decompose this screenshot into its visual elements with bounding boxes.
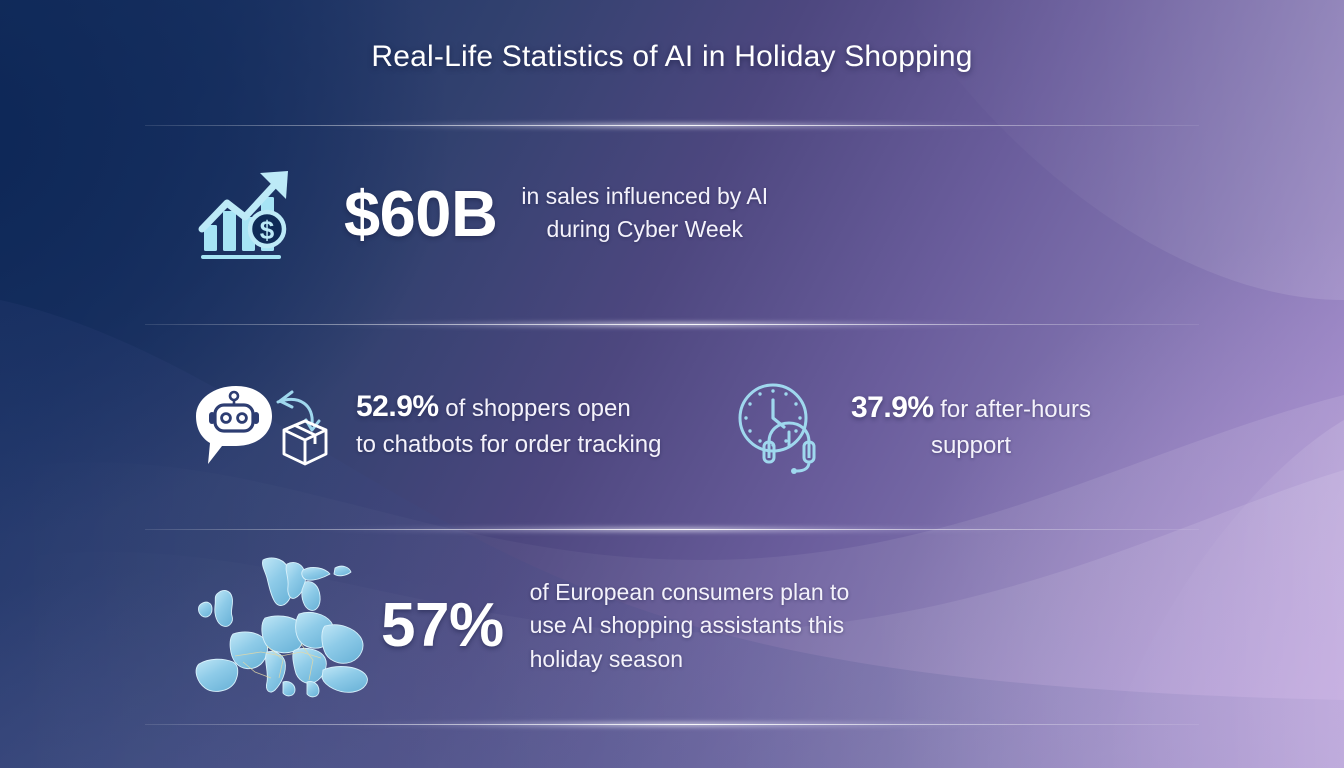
stat-copy-after-hours: 37.9% for after-hours support <box>851 391 1091 463</box>
stat-caption-after-hours-2: support <box>851 428 1091 464</box>
europe-map-icon <box>183 552 369 700</box>
stat-caption-eu-line-2: use AI shopping assistants this <box>530 609 850 643</box>
stat-line-after-hours-1: 37.9% for after-hours <box>851 391 1091 428</box>
growth-chart-dollar-icon: $ <box>196 163 304 263</box>
stat-value-chatbots: 52.9% <box>356 390 439 423</box>
stat-copy-chatbots: 52.9% of shoppers open to chatbots for o… <box>356 390 661 462</box>
stat-caption-line-2: during Cyber Week <box>521 213 768 246</box>
stat-row-sales: $ $60B in sales influenced by AI during … <box>196 163 768 263</box>
stat-caption-after-hours-1: for after-hours <box>934 396 1091 423</box>
chatbot-package-icon <box>188 380 328 472</box>
stat-caption-line-1: in sales influenced by AI <box>521 180 768 213</box>
infographic-canvas: Real-Life Statistics of AI in Holiday Sh… <box>0 0 1344 768</box>
stat-value-european-consumers: 57% <box>381 595 504 657</box>
stat-row-european-consumers: 57% of European consumers plan to use AI… <box>183 552 849 700</box>
stat-value-sales: $60B <box>344 181 497 246</box>
stat-caption-eu-line-3: holiday season <box>530 643 850 677</box>
stat-caption-chatbots-2: to chatbots for order tracking <box>356 427 661 463</box>
clock-headset-icon <box>733 380 829 474</box>
stat-line-chatbots-1: 52.9% of shoppers open <box>356 390 661 427</box>
stat-caption-sales: in sales influenced by AI during Cyber W… <box>521 180 768 245</box>
stat-caption-european-consumers: of European consumers plan to use AI sho… <box>530 576 850 677</box>
svg-text:$: $ <box>260 215 275 245</box>
stat-caption-chatbots-1: of shoppers open <box>439 395 631 422</box>
page-title: Real-Life Statistics of AI in Holiday Sh… <box>0 40 1344 74</box>
stat-value-after-hours: 37.9% <box>851 391 934 424</box>
stat-row-after-hours: 37.9% for after-hours support <box>733 380 1091 474</box>
stat-row-chatbots: 52.9% of shoppers open to chatbots for o… <box>188 380 661 472</box>
stat-caption-eu-line-1: of European consumers plan to <box>530 576 850 610</box>
